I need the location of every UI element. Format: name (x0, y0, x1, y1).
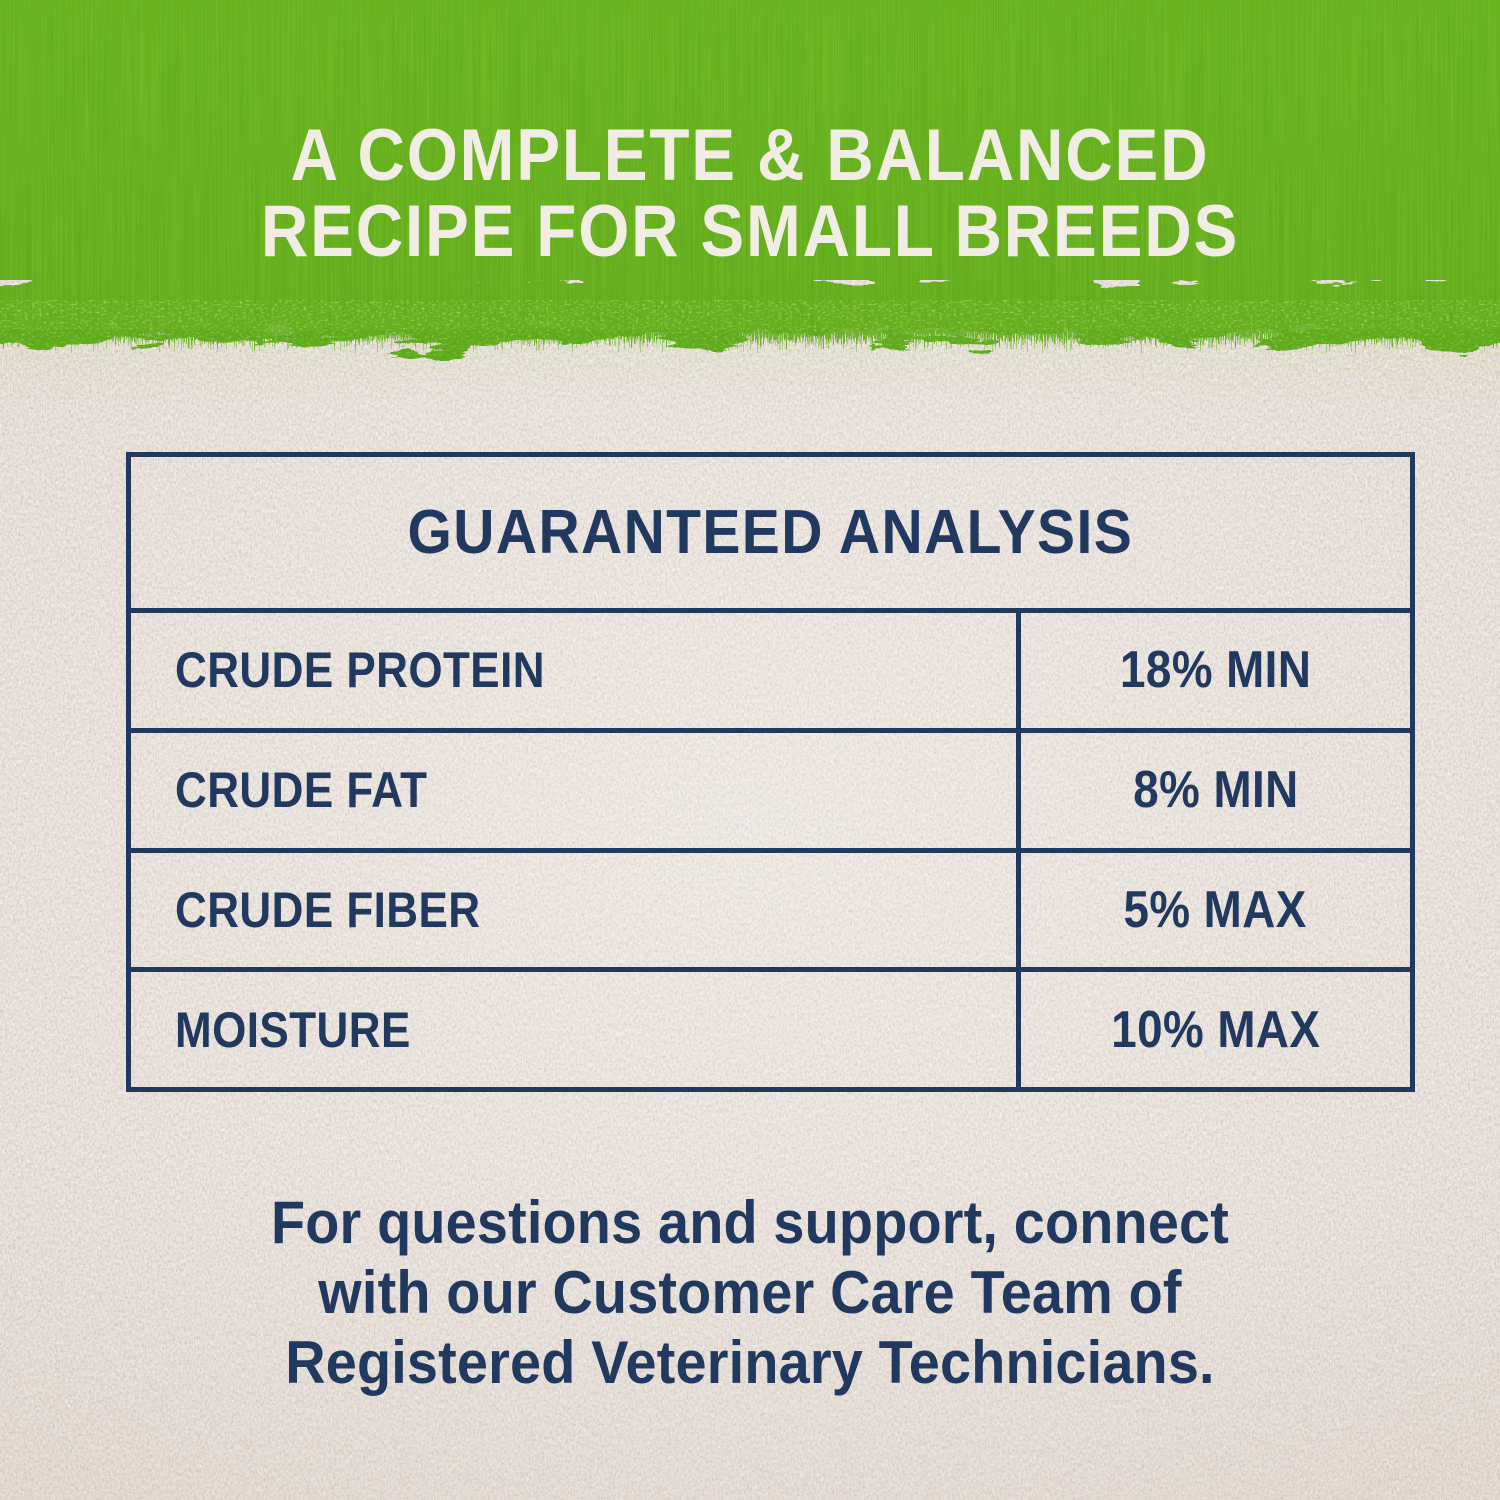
table-row: MOISTURE 10% MAX (131, 972, 1410, 1087)
nutrient-label: CRUDE FIBER (175, 881, 481, 939)
nutrient-value: 8% MIN (1133, 760, 1298, 820)
table-row: CRUDE FAT 8% MIN (131, 733, 1410, 853)
guaranteed-analysis-table: GUARANTEED ANALYSIS CRUDE PROTEIN 18% MI… (126, 452, 1415, 1092)
customer-care-line-2: with our Customer Care Team of (155, 1258, 1345, 1328)
nutrient-value: 18% MIN (1120, 640, 1311, 700)
nutrient-value-cell: 10% MAX (1021, 972, 1410, 1087)
product-label-panel: A COMPLETE & BALANCED RECIPE FOR SMALL B… (0, 0, 1500, 1500)
customer-care-note: For questions and support, connect with … (110, 1188, 1390, 1398)
nutrient-label: CRUDE FAT (175, 761, 427, 819)
green-spray-flecks (0, 0, 1500, 420)
nutrient-value-cell: 8% MIN (1021, 733, 1410, 848)
guaranteed-analysis-header: GUARANTEED ANALYSIS (131, 457, 1410, 613)
nutrient-value-cell: 18% MIN (1021, 613, 1410, 728)
nutrient-value: 10% MAX (1111, 1000, 1320, 1060)
customer-care-line-3: Registered Veterinary Technicians. (155, 1328, 1345, 1398)
nutrient-label-cell: CRUDE PROTEIN (131, 613, 1021, 728)
nutrient-value-cell: 5% MAX (1021, 853, 1410, 968)
nutrient-label-cell: CRUDE FIBER (131, 853, 1021, 968)
customer-care-line-1: For questions and support, connect (155, 1188, 1345, 1258)
table-row: CRUDE FIBER 5% MAX (131, 853, 1410, 973)
nutrient-label: MOISTURE (175, 1001, 411, 1059)
guaranteed-analysis-title: GUARANTEED ANALYSIS (408, 497, 1134, 568)
table-row: CRUDE PROTEIN 18% MIN (131, 613, 1410, 733)
nutrient-value: 5% MAX (1124, 880, 1307, 940)
guaranteed-analysis-rows: CRUDE PROTEIN 18% MIN CRUDE FAT 8% MIN C… (131, 613, 1410, 1087)
nutrient-label: CRUDE PROTEIN (175, 641, 545, 699)
green-header-band (0, 0, 1500, 420)
nutrient-label-cell: CRUDE FAT (131, 733, 1021, 848)
nutrient-label-cell: MOISTURE (131, 972, 1021, 1087)
